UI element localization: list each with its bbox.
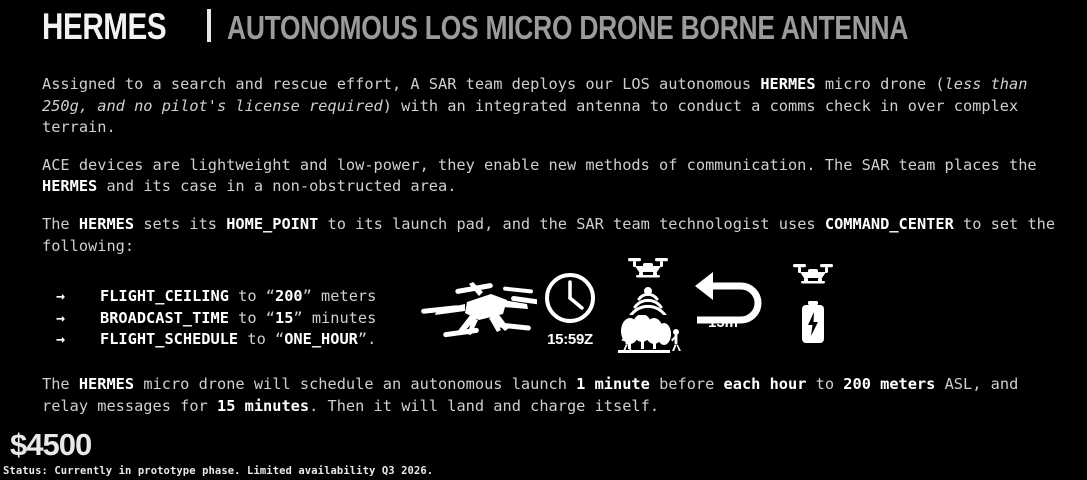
p4-text-2: micro drone will schedule an autonomous … — [134, 375, 576, 393]
p1-bold-hermes: HERMES — [760, 75, 815, 93]
charge-stack — [778, 260, 848, 346]
p4-text-4: to — [806, 375, 843, 393]
drone-icon — [626, 255, 670, 279]
price-label: $4500 — [10, 429, 91, 460]
paragraph-intro: Assigned to a search and rescue effort, … — [42, 74, 1072, 139]
clock-time-label: 15:59Z — [535, 331, 605, 348]
clock-icon — [542, 270, 598, 326]
p4-text-6: . Then it will land and charge itself. — [309, 397, 659, 415]
arrow-right-icon: → — [56, 329, 100, 351]
closing-copy: The HERMES micro drone will schedule an … — [42, 374, 1072, 417]
icon-strip: 15:59Z — [415, 250, 870, 365]
p2-text-2: and its case in a non-obstructed area. — [97, 177, 456, 195]
setting-tail-1: ” meters — [303, 287, 377, 305]
p1-text-2: micro drone ( — [816, 75, 945, 93]
list-item: → FLIGHT_CEILING to “200” meters — [56, 286, 376, 308]
page-subtitle: AUTONOMOUS LOS MICRO DRONE BORNE ANTENNA — [227, 11, 908, 44]
p2-text-1: ACE devices are lightweight and low-powe… — [42, 156, 1037, 174]
setting-row-1: FLIGHT_CEILING to “200” meters — [100, 286, 376, 308]
p3-text-3: to its launch pad, and the SAR team tech… — [318, 215, 825, 233]
settings-list: → FLIGHT_CEILING to “200” meters → BROAD… — [56, 286, 376, 351]
p3-bold-command-center: COMMAND_CENTER — [825, 215, 954, 233]
arrow-right-icon: → — [56, 308, 100, 330]
body-copy: Assigned to a search and rescue effort, … — [42, 74, 1072, 257]
battery-charging-icon — [798, 300, 828, 346]
p3-text-1: The — [42, 215, 79, 233]
p4-bold-each-hour: each hour — [724, 375, 807, 393]
page-title: HERMES AUTONOMOUS LOS MICRO DRONE BORNE … — [42, 6, 1079, 45]
relay-stack — [610, 255, 685, 355]
p4-bold-one-minute: 1 minute — [576, 375, 650, 393]
drone-icon — [415, 280, 537, 346]
setting-tail-2: ” minutes — [293, 309, 376, 327]
u-turn-arrow-cell: 15m — [683, 270, 783, 336]
drone-icon — [791, 260, 835, 286]
p4-bold-200-meters: 200 meters — [843, 375, 935, 393]
clock-cell: 15:59Z — [535, 270, 605, 348]
p3-bold-hermes: HERMES — [79, 215, 134, 233]
setting-value-3: ONE_HOUR — [284, 330, 358, 348]
broadcast-signal-icon — [626, 285, 670, 315]
list-item: → FLIGHT_SCHEDULE to “ONE_HOUR”. — [56, 329, 376, 351]
paragraph-ace: ACE devices are lightweight and low-powe… — [42, 155, 1072, 198]
p4-bold-hermes: HERMES — [79, 375, 134, 393]
loop-distance-label: 15m — [708, 314, 738, 331]
forest-people-icon — [612, 315, 684, 355]
setting-mid-2: to “ — [229, 309, 275, 327]
p2-bold-hermes: HERMES — [42, 177, 97, 195]
setting-value-1: 200 — [275, 287, 303, 305]
list-item: → BROADCAST_TIME to “15” minutes — [56, 308, 376, 330]
setting-tail-3: ”. — [358, 330, 376, 348]
p4-text-3: before — [650, 375, 724, 393]
setting-mid-3: to “ — [238, 330, 284, 348]
setting-key-3: FLIGHT_SCHEDULE — [100, 330, 238, 348]
p4-bold-15-minutes: 15 minutes — [217, 397, 309, 415]
status-line: Status: Currently in prototype phase. Li… — [3, 465, 433, 477]
p3-bold-home-point: HOME_POINT — [226, 215, 318, 233]
title-separator-icon — [207, 9, 211, 42]
paragraph-schedule: The HERMES micro drone will schedule an … — [42, 374, 1072, 417]
p4-text-1: The — [42, 375, 79, 393]
setting-row-2: BROADCAST_TIME to “15” minutes — [100, 308, 376, 330]
arrow-right-icon: → — [56, 286, 100, 308]
p1-text-1: Assigned to a search and rescue effort, … — [42, 75, 760, 93]
setting-key-2: BROADCAST_TIME — [100, 309, 229, 327]
brand-name: HERMES — [42, 8, 166, 45]
setting-key-1: FLIGHT_CEILING — [100, 287, 229, 305]
setting-value-2: 15 — [275, 309, 293, 327]
p3-text-2: sets its — [134, 215, 226, 233]
setting-mid-1: to “ — [229, 287, 275, 305]
setting-row-3: FLIGHT_SCHEDULE to “ONE_HOUR”. — [100, 329, 376, 351]
